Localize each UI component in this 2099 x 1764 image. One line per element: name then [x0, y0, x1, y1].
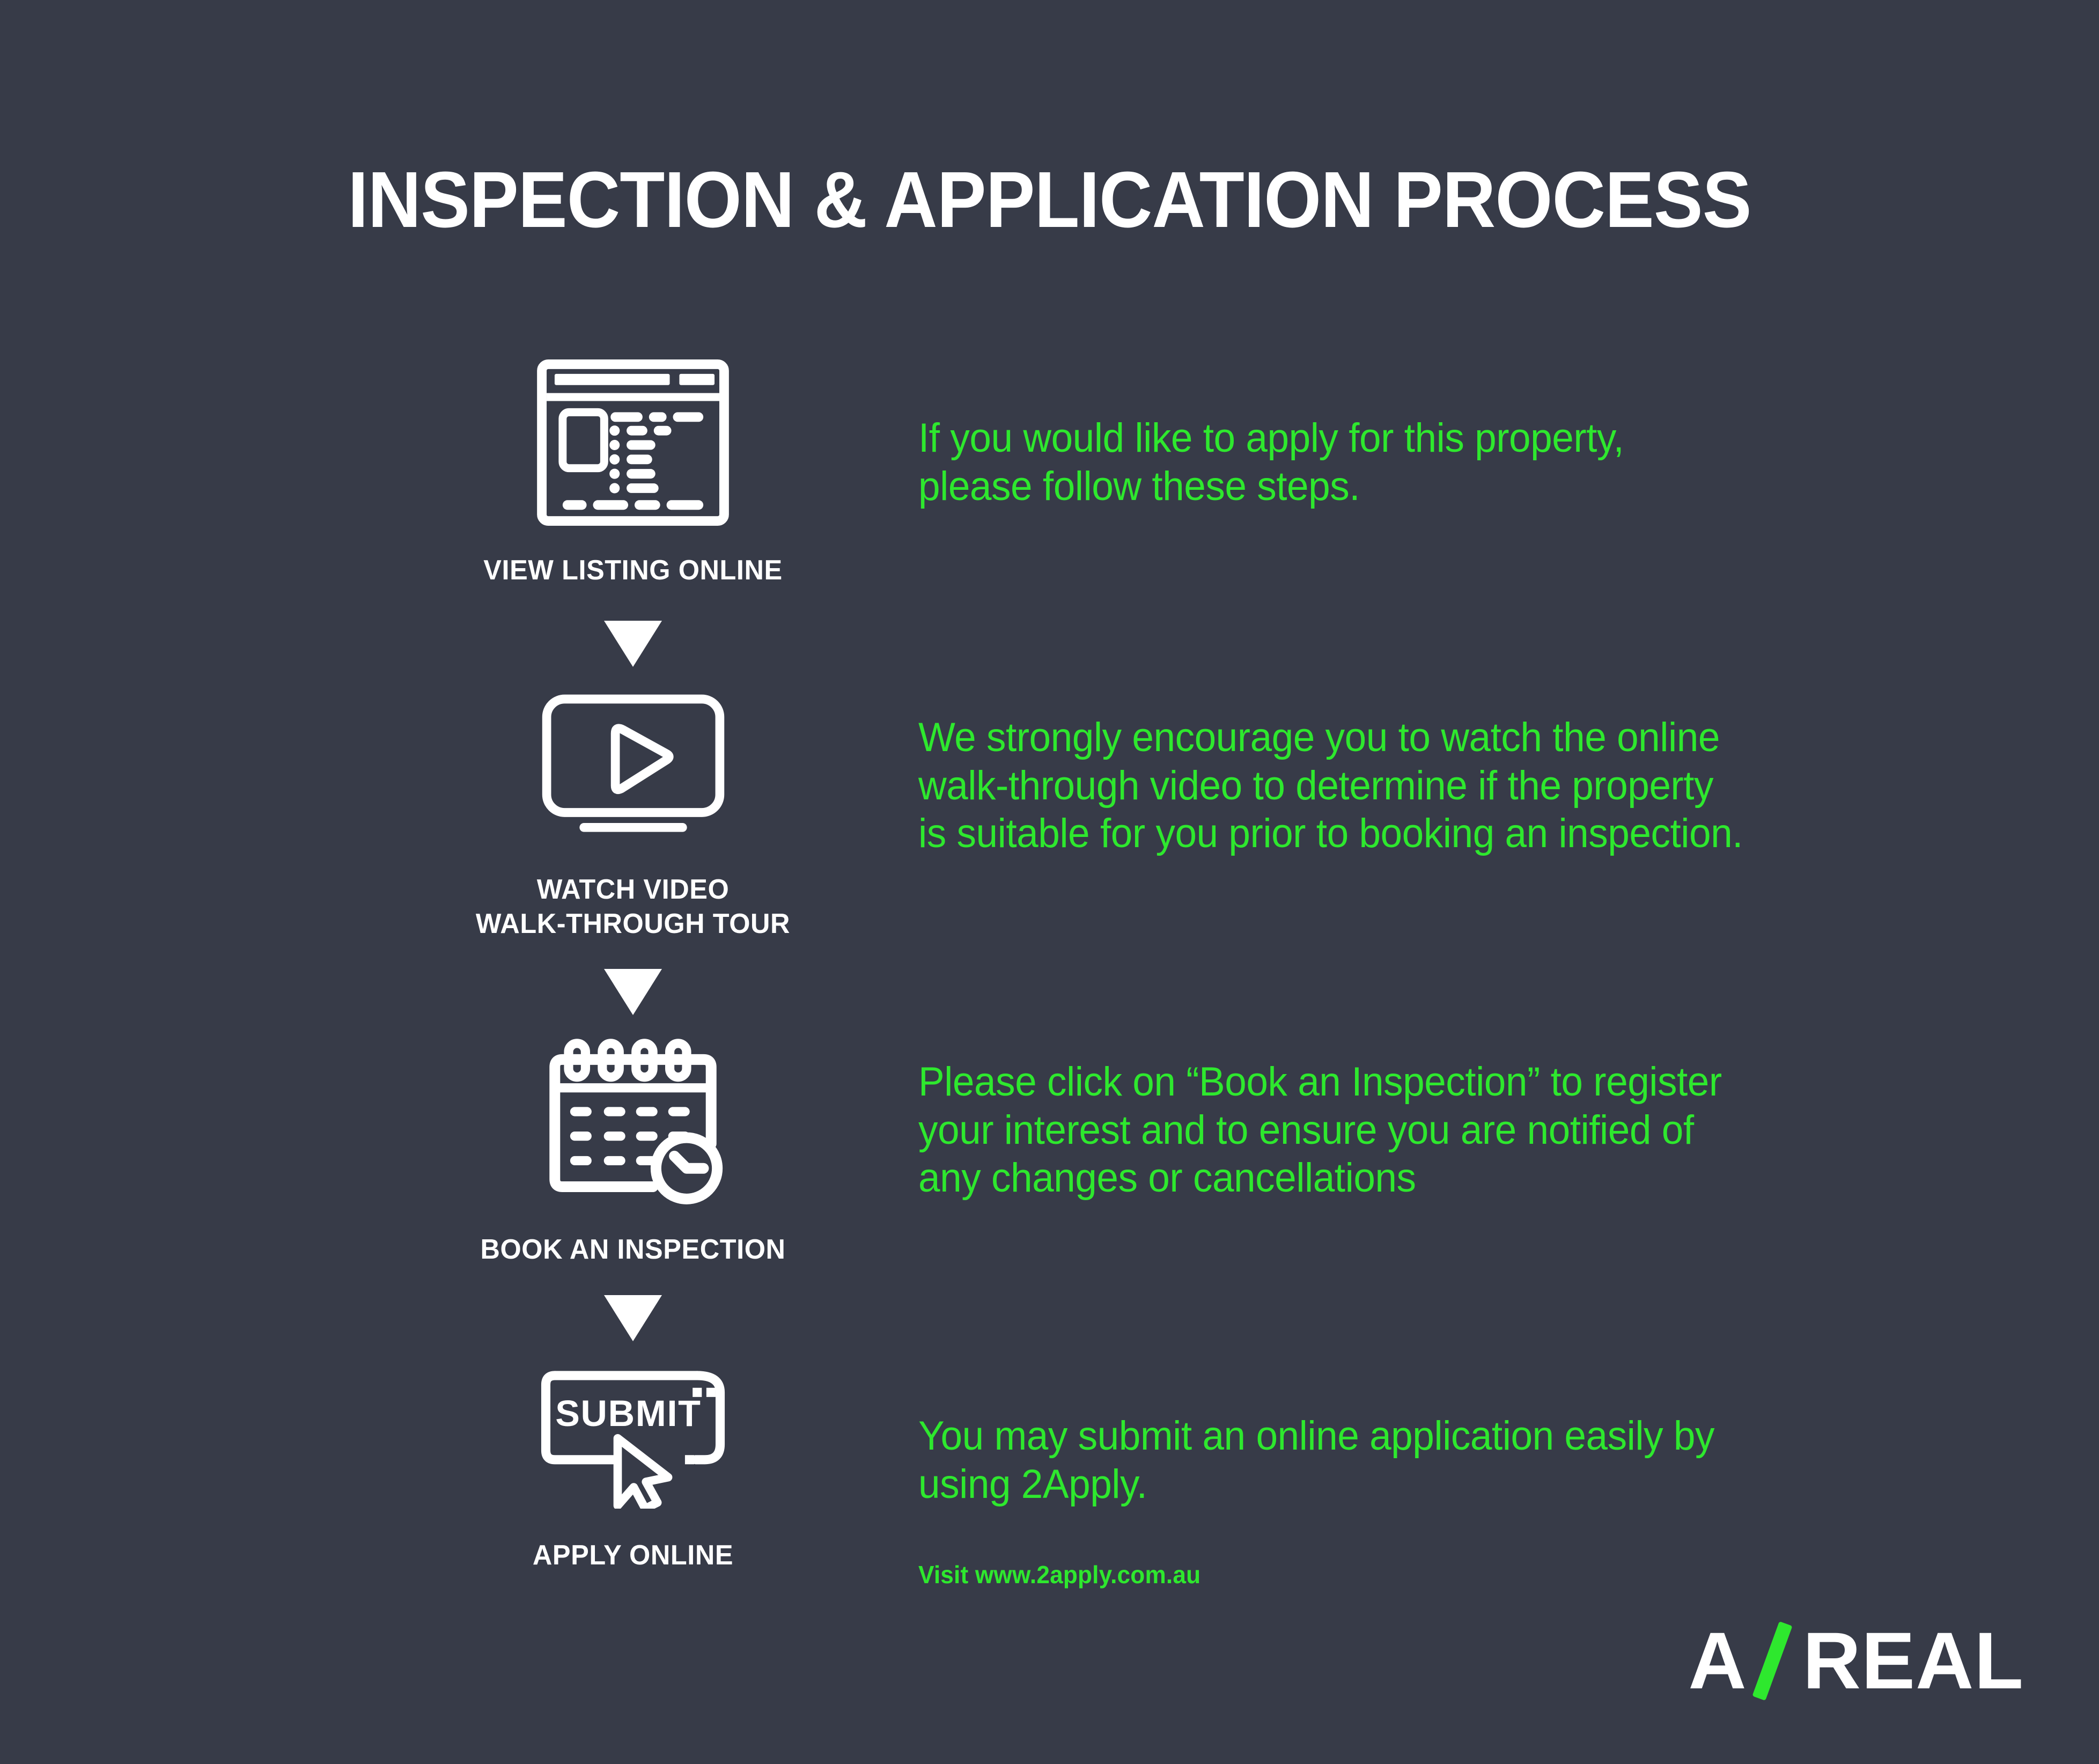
- page-title: INSPECTION & APPLICATION PROCESS: [73, 155, 2026, 246]
- listing-page-icon-wrap: [343, 359, 923, 526]
- listing-page-icon: [536, 359, 730, 526]
- flow-arrow-down-icon: [604, 621, 662, 667]
- process-flow-column: VIEW LISTING ONLINE WATCH VIDEO WALK-THR…: [343, 359, 923, 1572]
- logo-letter-a: A: [1688, 1620, 1747, 1701]
- video-monitor-play-icon-wrap: [343, 693, 923, 843]
- step-book-inspection: BOOK AN INSPECTION: [343, 1037, 923, 1267]
- submit-icon-text: SUBMIT: [555, 1393, 701, 1434]
- submit-button-cursor-icon-wrap: SUBMIT: [343, 1365, 923, 1509]
- copy-step-1: If you would like to apply for this prop…: [918, 414, 1624, 510]
- step-label-watch-video: WATCH VIDEO WALK-THROUGH TOUR: [352, 873, 914, 941]
- flow-arrow-down-icon: [604, 1295, 662, 1341]
- step-label-view-listing-online: VIEW LISTING ONLINE: [352, 554, 914, 587]
- infographic-poster: INSPECTION & APPLICATION PROCESS: [0, 0, 2099, 1764]
- calendar-clock-icon-wrap: [343, 1037, 923, 1208]
- visit-url-text[interactable]: Visit www.2apply.com.au: [918, 1560, 1201, 1589]
- step-label-book-inspection: BOOK AN INSPECTION: [352, 1233, 914, 1267]
- logo-word-real: REAL: [1803, 1620, 2024, 1701]
- step-view-listing-online: VIEW LISTING ONLINE: [343, 359, 923, 587]
- logo-slash-icon: [1749, 1620, 1801, 1701]
- copy-step-4: You may submit an online application eas…: [918, 1412, 1714, 1508]
- step-apply-online: SUBMIT APPLY ONLINE: [343, 1365, 923, 1572]
- flow-arrow-down-icon: [604, 969, 662, 1015]
- areal-logo: A REAL: [1688, 1615, 2024, 1706]
- copy-step-3: Please click on “Book an Inspection” to …: [918, 1058, 1722, 1202]
- copy-step-2: We strongly encourage you to watch the o…: [918, 714, 1743, 858]
- calendar-clock-icon: [539, 1037, 727, 1208]
- step-watch-video: WATCH VIDEO WALK-THROUGH TOUR: [343, 693, 923, 941]
- submit-button-cursor-icon: SUBMIT: [536, 1365, 730, 1509]
- video-monitor-play-icon: [541, 693, 726, 843]
- step-label-apply-online: APPLY ONLINE: [352, 1539, 914, 1572]
